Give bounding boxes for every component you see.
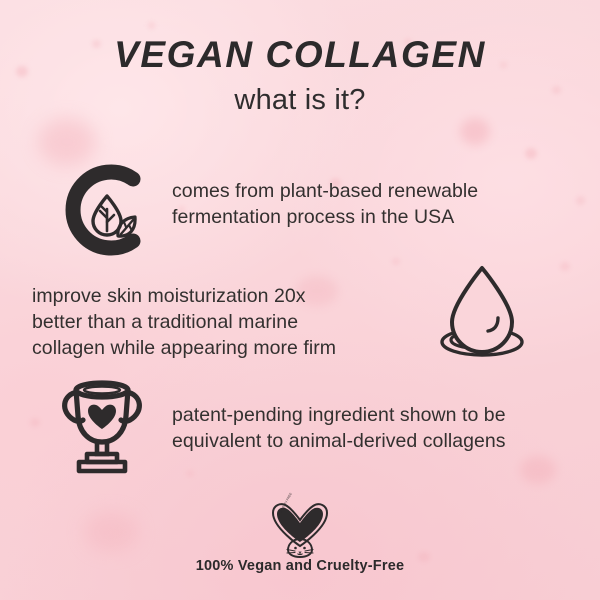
page-subtitle: what is it? xyxy=(0,84,600,117)
feature-text-2: improve skin moisturization 20x better t… xyxy=(32,283,432,361)
cruelty-free-bunny-heart-icon: CRUELTY FREE xyxy=(262,500,338,558)
feature-line: comes from plant-based renewable xyxy=(172,178,572,204)
background-blotch xyxy=(525,148,537,159)
feature-line: better than a traditional marine xyxy=(32,309,432,335)
background-blotch xyxy=(460,118,490,145)
vegan-collagen-infographic: VEGAN COLLAGEN what is it? comes from pl… xyxy=(0,0,600,600)
feature-line: collagen while appearing more firm xyxy=(32,335,432,361)
trophy-heart-icon xyxy=(52,372,152,472)
background-blotch xyxy=(186,470,194,477)
background-blotch xyxy=(576,196,585,205)
feature-line: patent-pending ingredient shown to be xyxy=(172,402,582,428)
feature-text-3: patent-pending ingredient shown to be eq… xyxy=(172,402,582,454)
feature-line: improve skin moisturization 20x xyxy=(32,283,432,309)
feature-line: fermentation process in the USA xyxy=(172,204,572,230)
page-title: VEGAN COLLAGEN xyxy=(0,34,600,76)
water-droplet-ripple-icon xyxy=(432,260,532,360)
background-blotch xyxy=(392,258,400,265)
collagen-c-leaf-droplet-icon xyxy=(55,160,153,258)
footer-caption: 100% Vegan and Cruelty-Free xyxy=(0,558,600,574)
feature-line: equivalent to animal-derived collagens xyxy=(172,428,582,454)
background-blotch xyxy=(520,456,556,484)
feature-text-1: comes from plant-based renewable ferment… xyxy=(172,178,572,230)
background-blotch xyxy=(84,512,138,552)
background-blotch xyxy=(148,22,155,29)
background-blotch xyxy=(30,418,40,427)
background-blotch xyxy=(38,118,96,166)
background-blotch xyxy=(560,262,570,271)
